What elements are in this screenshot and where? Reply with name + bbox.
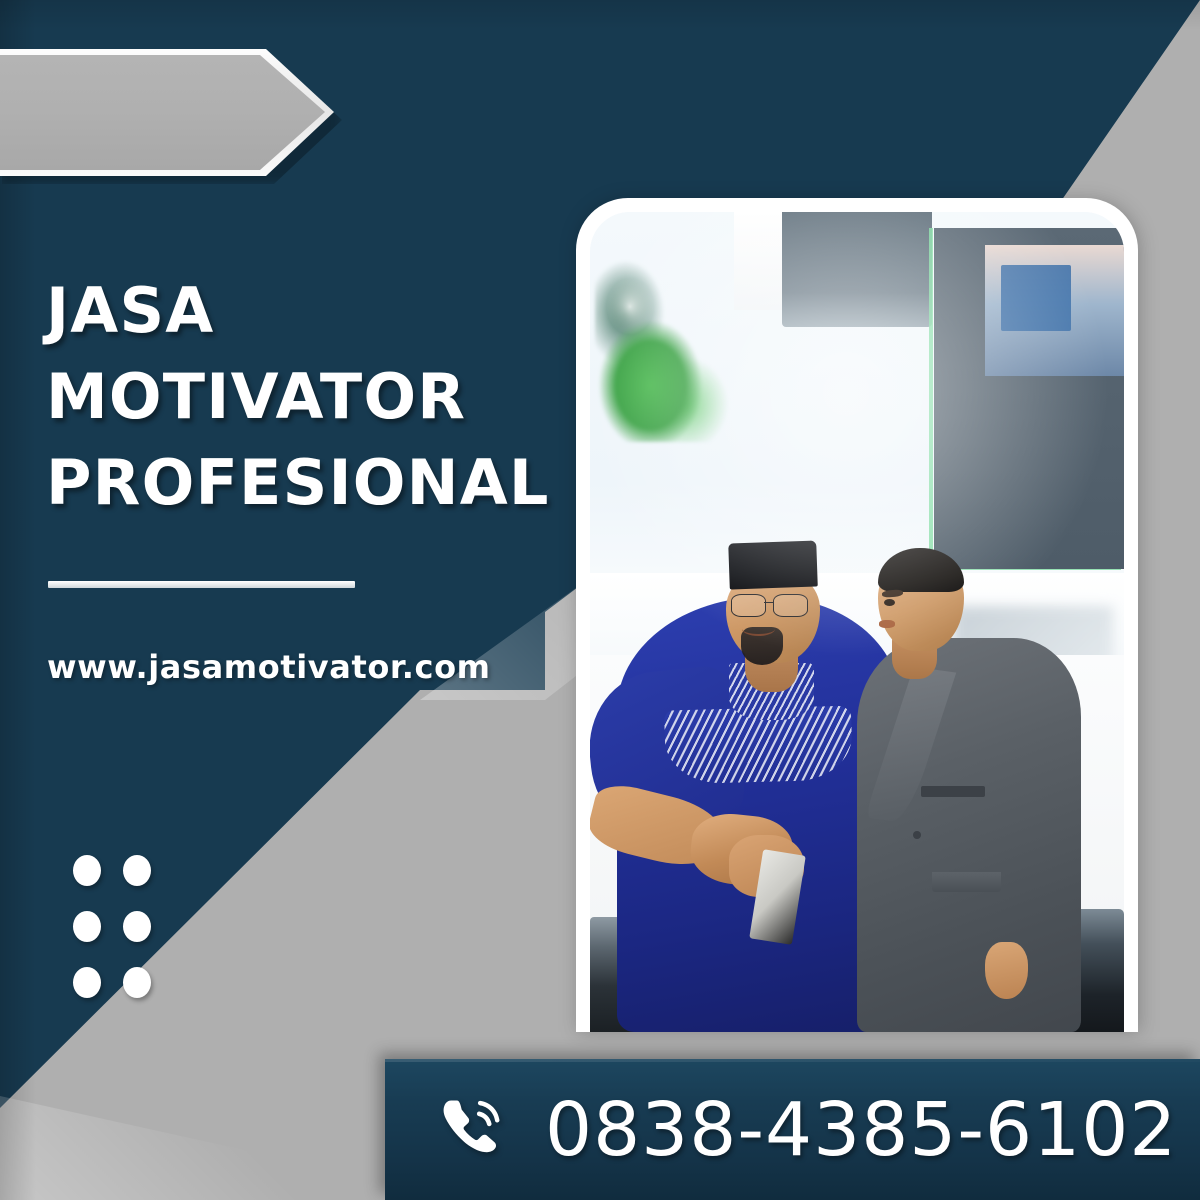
dot xyxy=(73,855,101,886)
photo-screen-dark-block xyxy=(782,212,932,327)
poster-canvas: JASA MOTIVATOR PROFESIONAL www.jasamotiv… xyxy=(0,0,1200,1200)
dot xyxy=(123,967,151,998)
younger-man-pocket-flap xyxy=(932,872,1001,892)
dot xyxy=(73,911,101,942)
website-url[interactable]: www.jasamotivator.com xyxy=(47,648,491,686)
phone-number[interactable]: 0838-4385-6102 xyxy=(545,1087,1177,1173)
headline-line-3: PROFESIONAL xyxy=(46,440,566,526)
dot xyxy=(123,855,151,886)
headline-line-1: JASA xyxy=(46,268,566,354)
arrow-banner-fill xyxy=(0,55,325,170)
photo-card xyxy=(576,198,1138,1032)
photo-screen-panel-figure xyxy=(1001,265,1070,331)
younger-man-chest-pocket xyxy=(921,786,985,797)
photo-screen-green-line-v xyxy=(929,228,933,572)
dot xyxy=(123,911,151,942)
younger-man-hand xyxy=(985,942,1028,999)
older-man-eyeglass-bridge xyxy=(764,602,773,603)
younger-man-gray-suit xyxy=(857,638,1081,1032)
headline-divider xyxy=(48,581,355,588)
older-man-peci-cap xyxy=(728,540,818,589)
headline-block: JASA MOTIVATOR PROFESIONAL xyxy=(46,268,566,526)
younger-man-lips xyxy=(879,620,895,628)
phone-ringing-icon xyxy=(433,1089,515,1171)
contact-bar: 0838-4385-6102 xyxy=(385,1059,1200,1200)
dot xyxy=(73,967,101,998)
older-man-eyeglass-left xyxy=(731,594,766,617)
photo-greenery-highlight xyxy=(606,278,654,335)
dot-grid xyxy=(73,855,153,1023)
photo-image xyxy=(590,212,1124,1032)
arrow-banner xyxy=(0,49,334,176)
older-man-eyeglass-right xyxy=(773,594,808,617)
headline-line-2: MOTIVATOR xyxy=(46,354,566,440)
photo-screen-white-block xyxy=(734,212,787,310)
